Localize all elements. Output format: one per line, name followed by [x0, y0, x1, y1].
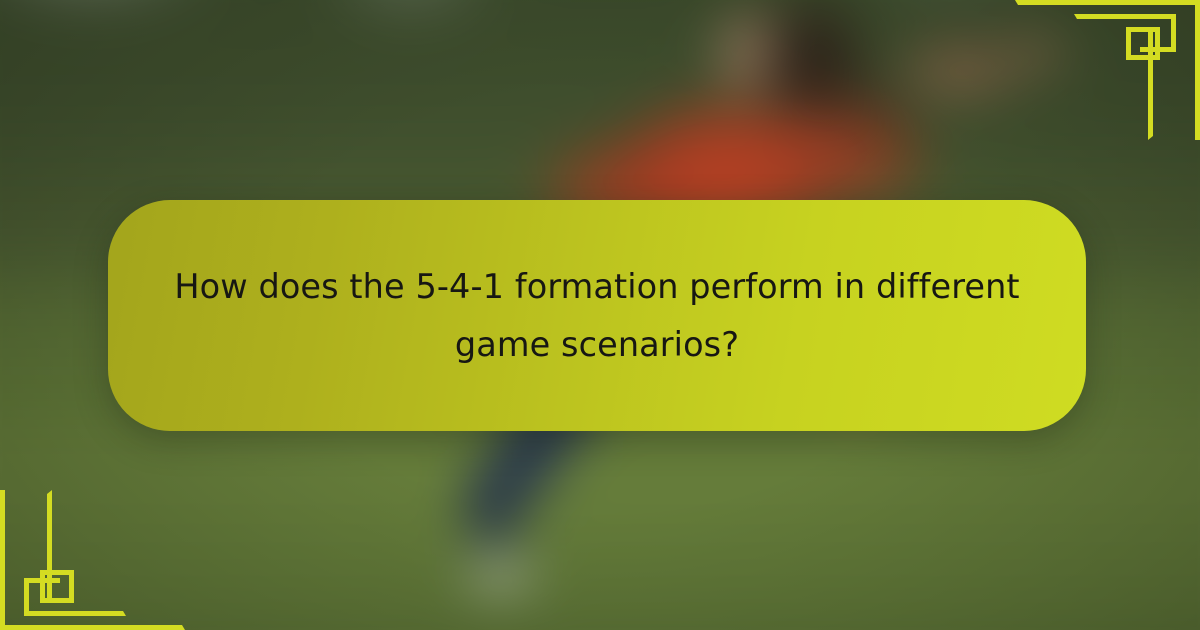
corner-ornament-bottom-left: [0, 490, 200, 630]
question-text: How does the 5-4-1 formation perform in …: [174, 258, 1020, 373]
share-card-canvas: How does the 5-4-1 formation perform in …: [0, 0, 1200, 630]
corner-ornament-bottom-left-icon: [0, 490, 200, 630]
corner-ornament-top-right-icon: [1000, 0, 1200, 140]
question-card: How does the 5-4-1 formation perform in …: [108, 200, 1086, 431]
corner-ornament-top-right: [1000, 0, 1200, 140]
